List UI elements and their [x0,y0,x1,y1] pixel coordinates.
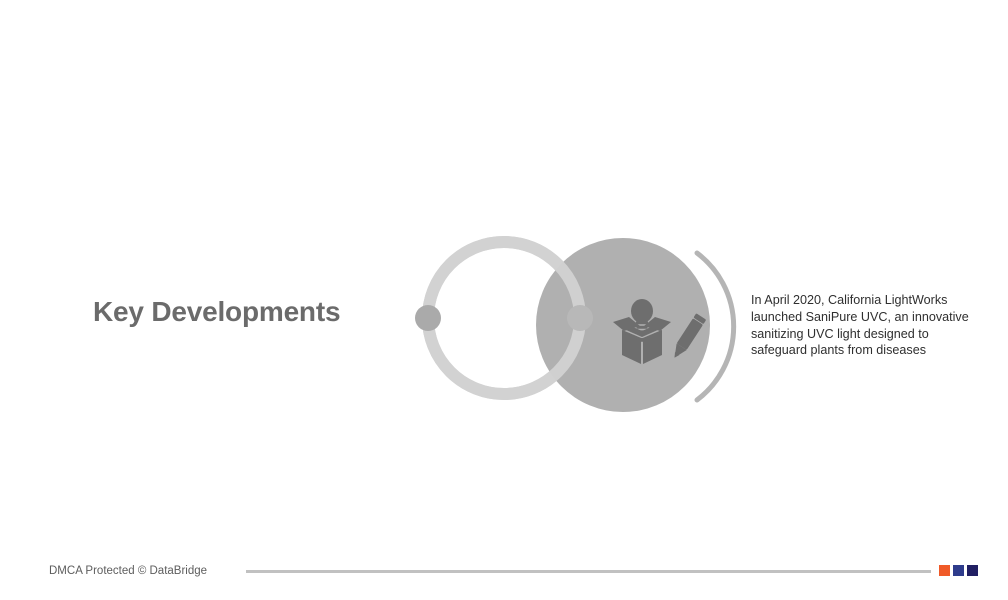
key-developments-graphic [400,220,740,420]
footer-divider [246,570,931,573]
body-paragraph: In April 2020, California LightWorks lau… [751,292,977,359]
swatch-orange [939,565,950,576]
ring-node-right [567,305,593,331]
brand-swatches [939,564,979,578]
page-title: Key Developments [93,296,340,328]
footer: DMCA Protected © DataBridge [0,556,1008,600]
swatch-navy [967,565,978,576]
slide-canvas: Key Developments [0,0,1008,600]
copyright-notice: DMCA Protected © DataBridge [49,565,207,577]
ring-node-left [415,305,441,331]
swatch-blue [953,565,964,576]
